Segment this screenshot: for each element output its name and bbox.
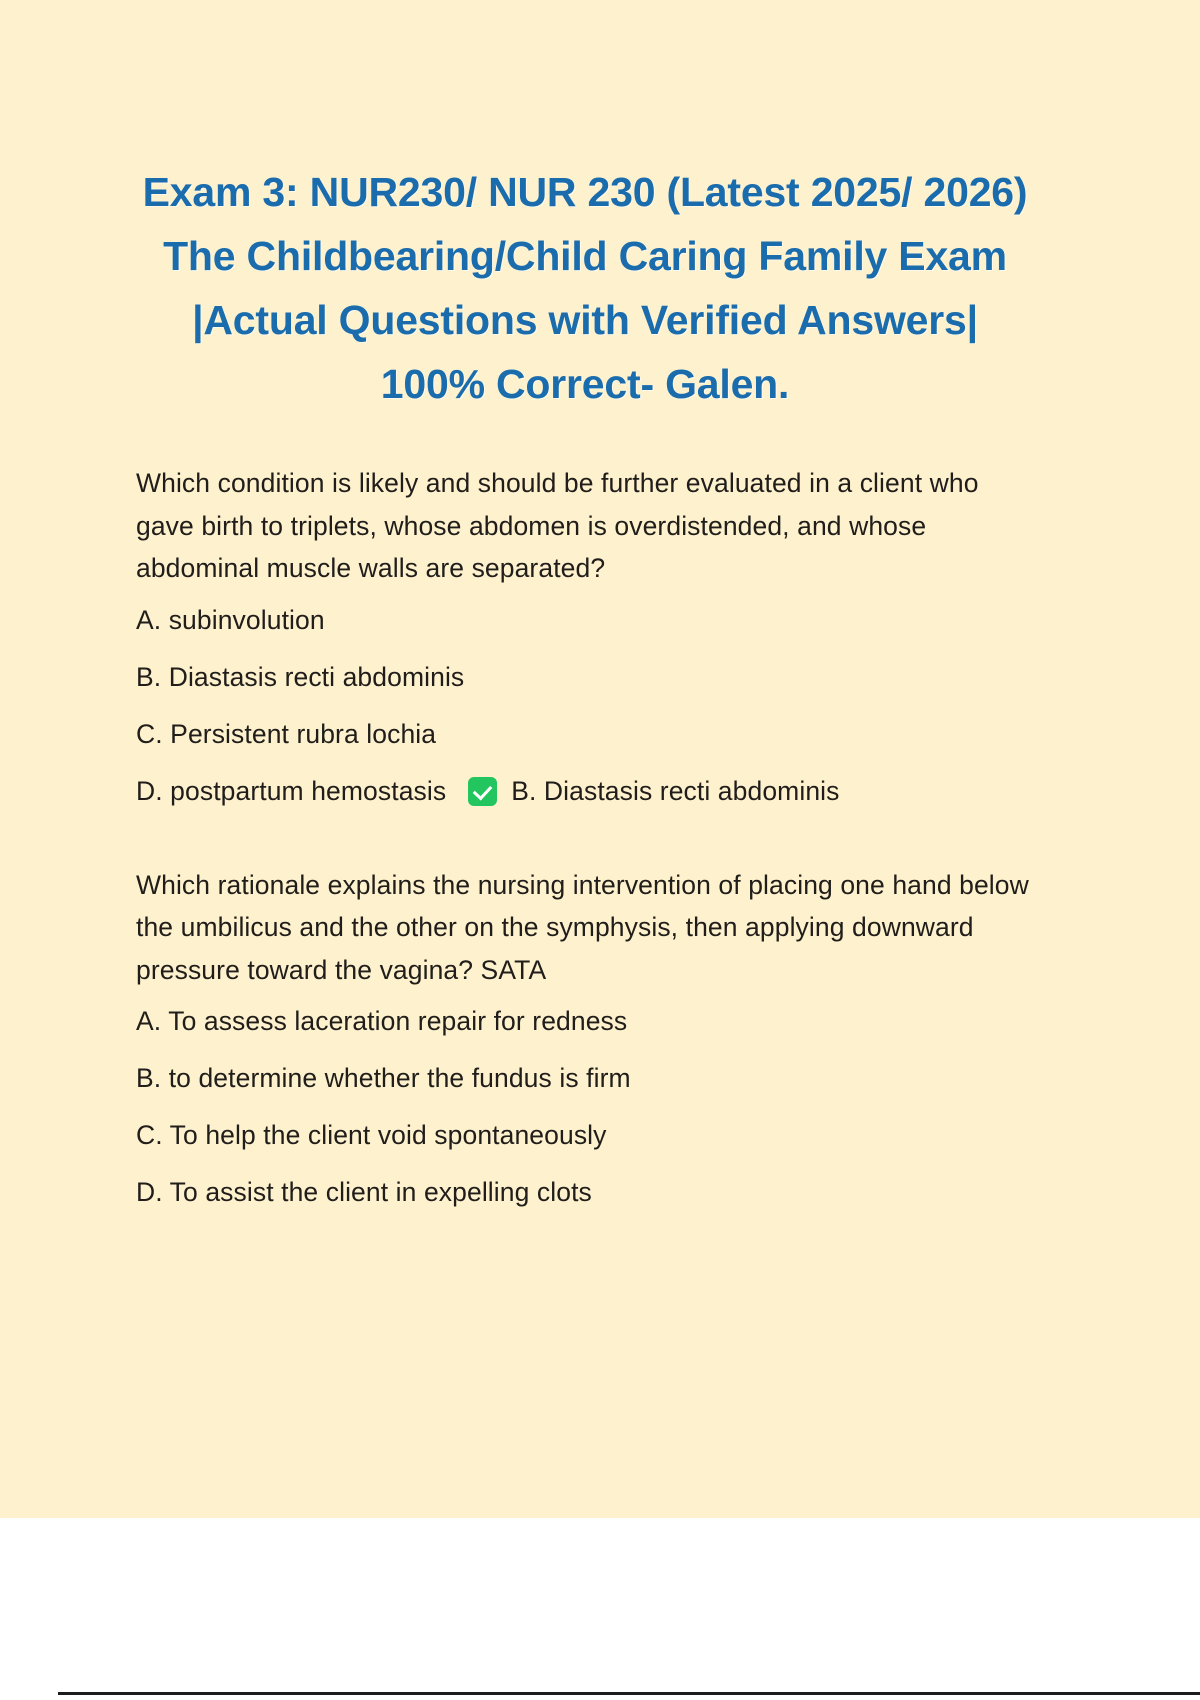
option-b[interactable]: B. to determine whether the fundus is fi… — [136, 1062, 1036, 1095]
option-label: A. To assess laceration repair for redne… — [136, 1005, 627, 1038]
option-label: B. to determine whether the fundus is fi… — [136, 1062, 631, 1095]
question-block-2: Which rationale explains the nursing int… — [136, 864, 1036, 1210]
option-b[interactable]: B. Diastasis recti abdominis — [136, 661, 1036, 694]
page-title: Exam 3: NUR230/ NUR 230 (Latest 2025/ 20… — [140, 160, 1030, 416]
question-stem: Which condition is likely and should be … — [136, 462, 1036, 590]
page-gutter — [0, 1518, 1200, 1700]
green-check-icon — [468, 777, 497, 806]
option-label: C. Persistent rubra lochia — [136, 718, 436, 751]
option-c[interactable]: C. Persistent rubra lochia — [136, 718, 1036, 751]
question-list: Which condition is likely and should be … — [136, 462, 1036, 1209]
option-d[interactable]: D. postpartum hemostasis B. Diastasis re… — [136, 775, 1036, 808]
answer-options: A. To assess laceration repair for redne… — [136, 1005, 1036, 1209]
question-block-1: Which condition is likely and should be … — [136, 462, 1036, 808]
bottom-divider — [58, 1692, 1200, 1695]
document-page: Exam 3: NUR230/ NUR 230 (Latest 2025/ 20… — [0, 0, 1200, 1518]
option-a[interactable]: A. subinvolution — [136, 604, 1036, 637]
option-label: C. To help the client void spontaneously — [136, 1119, 607, 1152]
option-a[interactable]: A. To assess laceration repair for redne… — [136, 1005, 1036, 1038]
answer-options: A. subinvolution B. Diastasis recti abdo… — [136, 604, 1036, 808]
revealed-answer: B. Diastasis recti abdominis — [468, 775, 839, 808]
option-d[interactable]: D. To assist the client in expelling clo… — [136, 1176, 1036, 1209]
option-label: D. To assist the client in expelling clo… — [136, 1176, 592, 1209]
correct-answer-text: B. Diastasis recti abdominis — [511, 775, 839, 808]
option-label: D. postpartum hemostasis — [136, 775, 446, 808]
question-stem: Which rationale explains the nursing int… — [136, 864, 1036, 992]
option-label: A. subinvolution — [136, 604, 325, 637]
option-c[interactable]: C. To help the client void spontaneously — [136, 1119, 1036, 1152]
question-separator — [136, 808, 1036, 864]
option-label: B. Diastasis recti abdominis — [136, 661, 464, 694]
